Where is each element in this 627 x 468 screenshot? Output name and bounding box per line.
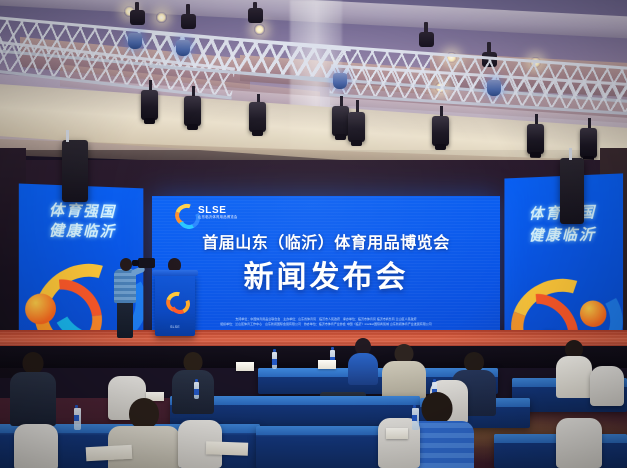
video-camera-icon [138, 258, 155, 268]
chair [590, 366, 624, 406]
event-logo-text: SLSE 山东临沂体育用品博览会 [198, 206, 238, 219]
left-banner-calligraphy-line2: 健康临沂 [19, 219, 144, 242]
conference-hall-photo: 体育强国 健康临沂 体育强国 健康临沂 SLSE 山东临沂体育用品博览会 [0, 0, 627, 468]
list-item [556, 340, 592, 396]
right-banner-calligraphy-line2: 健康临沂 [504, 223, 623, 246]
list-item [10, 352, 56, 422]
stage-wash-light-icon [333, 73, 347, 89]
swoosh-logo-icon [166, 290, 184, 310]
stage-wash-light-icon [176, 40, 190, 56]
document-paper [86, 445, 133, 461]
swoosh-logo-icon [174, 202, 194, 224]
line-array-speaker-icon [560, 158, 584, 224]
cameraman-legs [117, 300, 133, 338]
main-led-screen: SLSE 山东临沂体育用品博览会 首届山东（临沂）体育用品博览会 新闻发布会 支… [152, 196, 500, 333]
ceiling-spotlight-icon [181, 14, 196, 29]
stage-par-light-icon [580, 128, 597, 158]
stage-par-light-icon [249, 102, 266, 132]
event-logo: SLSE 山东临沂体育用品博览会 [174, 202, 238, 224]
stage-wash-light-icon [128, 33, 142, 49]
podium-logo-text: SLSE [155, 325, 195, 329]
ceiling-spotlight-icon [419, 32, 434, 47]
name-card [318, 360, 336, 369]
stage-par-light-icon [332, 106, 349, 136]
screen-title-line1: 首届山东（临沂）体育用品博览会 [152, 229, 500, 253]
speaker-rigging [569, 148, 572, 160]
stage-par-light-icon [184, 96, 201, 126]
ceiling-downlight-icon [254, 24, 265, 35]
chair [556, 418, 602, 468]
water-bottle [74, 408, 81, 430]
line-array-speaker-icon [62, 140, 88, 202]
screen-credits-line2: 组织单位：兰山区体育工作中心 山东新闻国际会展有限公司 协办单位：临沂市体育产业… [166, 322, 486, 327]
cameraman-head [120, 258, 132, 271]
podium-top [152, 270, 198, 276]
water-bottle [194, 382, 199, 399]
stage-par-light-icon [141, 90, 158, 120]
podium: SLSE [155, 274, 195, 336]
screen-credits: 支持单位：中国体育用品业联合会 主办单位：山东省体育局 临沂市人民政府 承办单位… [166, 317, 486, 326]
ceiling-spotlight-icon [248, 8, 263, 23]
stage-par-light-icon [348, 112, 365, 142]
list-item [348, 338, 378, 384]
stage-wash-light-icon [487, 80, 501, 96]
stage-par-light-icon [527, 124, 544, 154]
speaker-rigging [66, 130, 69, 142]
light-yoke [356, 100, 359, 112]
chair [14, 424, 58, 468]
water-bottle [412, 408, 419, 430]
ceiling-downlight-icon [156, 12, 167, 23]
ceiling-spotlight-icon [130, 10, 145, 25]
event-logo-subtext: 山东临沂体育用品博览会 [198, 216, 238, 219]
water-bottle [272, 352, 277, 369]
screen-title-line2: 新闻发布会 [152, 252, 500, 296]
document-paper [206, 441, 248, 455]
stage-par-light-icon [432, 116, 449, 146]
name-card [386, 428, 408, 439]
name-card [236, 362, 254, 371]
stage-front-face [0, 346, 627, 368]
